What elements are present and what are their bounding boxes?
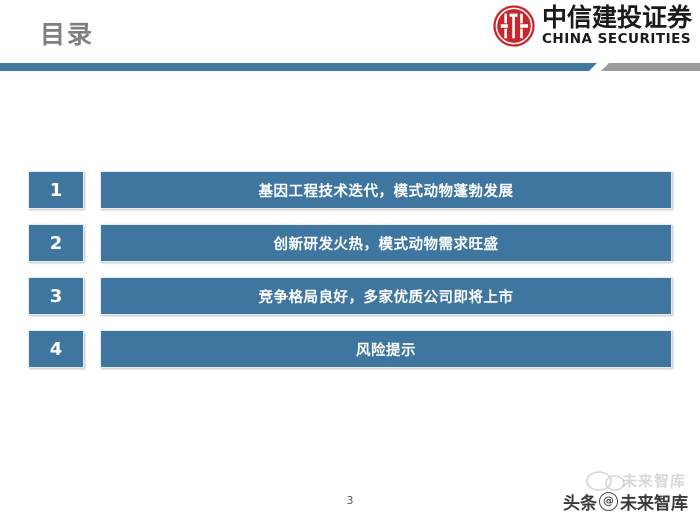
watermark-handle: 头条 @ 未来智库	[563, 489, 688, 514]
agenda-item-1[interactable]: 1 基因工程技术迭代，模式动物蓬勃发展	[28, 171, 672, 209]
watermark-platform: 头条	[563, 489, 597, 514]
agenda-number-3: 3	[28, 277, 84, 315]
agenda-number-2: 2	[28, 224, 84, 262]
agenda-number-4: 4	[28, 330, 84, 368]
agenda-item-3[interactable]: 3 竞争格局良好，多家优质公司即将上市	[28, 277, 672, 315]
slide-canvas: 目录 中信建投证券 CHINA SECURITIES	[0, 0, 700, 525]
agenda-label-3[interactable]: 竞争格局良好，多家优质公司即将上市	[100, 277, 672, 315]
watermark-handle-name: 未来智库	[620, 489, 688, 514]
agenda-label-2[interactable]: 创新研发火热，模式动物需求旺盛	[100, 224, 672, 262]
agenda-label-4[interactable]: 风险提示	[100, 330, 672, 368]
at-symbol-icon: @	[599, 492, 618, 511]
agenda-label-1[interactable]: 基因工程技术迭代，模式动物蓬勃发展	[100, 171, 672, 209]
watermark-faint-text: 未来智库	[622, 470, 686, 491]
agenda-item-4[interactable]: 4 风险提示	[28, 330, 672, 368]
agenda-number-1: 1	[28, 171, 84, 209]
agenda-list: 1 基因工程技术迭代，模式动物蓬勃发展 2 创新研发火热，模式动物需求旺盛 3 …	[0, 0, 700, 525]
agenda-item-2[interactable]: 2 创新研发火热，模式动物需求旺盛	[28, 224, 672, 262]
